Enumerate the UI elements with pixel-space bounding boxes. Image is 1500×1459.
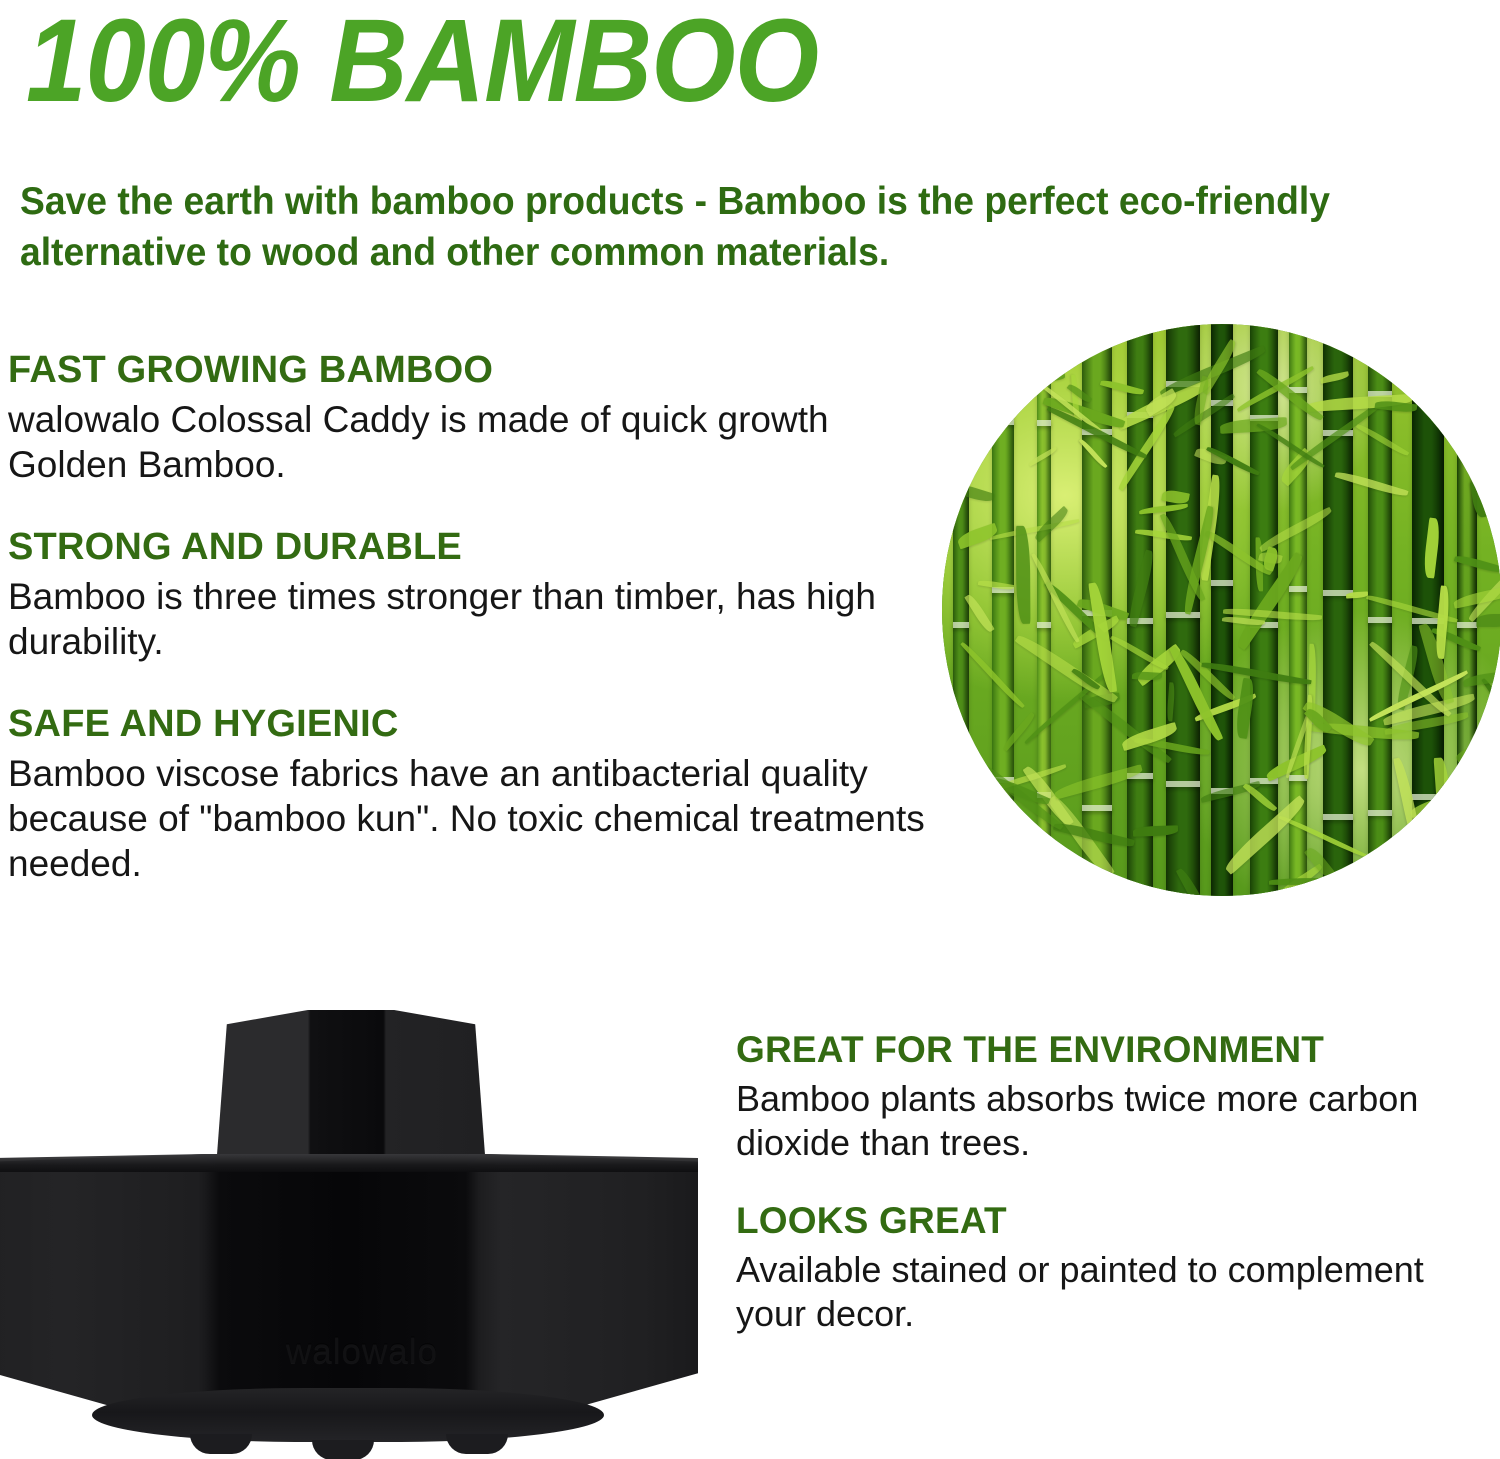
- feature-body: walowalo Colossal Caddy is made of quick…: [8, 397, 958, 487]
- bamboo-leaf: [1053, 764, 1144, 800]
- caddy-foot: [190, 1434, 252, 1454]
- bamboo-leaf: [1020, 875, 1058, 884]
- feature-fast-growing-bamboo: FAST GROWING BAMBOO walowalo Colossal Ca…: [8, 348, 958, 487]
- feature-body: Bamboo viscose fabrics have an antibacte…: [8, 751, 958, 886]
- bamboo-leaf: [960, 640, 1025, 710]
- bamboo-leaf: [1470, 719, 1500, 817]
- caddy-top-rim: [0, 1154, 698, 1172]
- bamboo-leaf: [1031, 552, 1080, 644]
- bamboo-leaf: [1015, 373, 1065, 383]
- bamboo-leaf: [1175, 867, 1217, 896]
- bamboo-leaf: [1166, 682, 1175, 722]
- feature-heading: LOOKS GREAT: [736, 1199, 1496, 1243]
- bamboo-leaf: [1027, 447, 1057, 467]
- bamboo-leaf: [1161, 489, 1190, 506]
- caddy-foot: [312, 1440, 374, 1459]
- bamboo-leaf: [948, 481, 994, 505]
- bamboo-leaf: [956, 522, 999, 549]
- bamboo-leaf: [1269, 878, 1385, 885]
- bamboo-leaf: [1335, 469, 1409, 498]
- feature-great-for-the-environment: GREAT FOR THE ENVIRONMENT Bamboo plants …: [736, 1028, 1496, 1165]
- bamboo-leaf: [1016, 526, 1031, 624]
- bamboo-leaf: [1434, 585, 1451, 659]
- product-logo-walowalo: walowalo: [232, 1332, 492, 1372]
- bamboo-leaf: [1100, 378, 1144, 397]
- bamboo-leaf: [1454, 733, 1500, 762]
- bamboo-leaf: [1067, 383, 1093, 405]
- page-headline: 100% BAMBOO: [26, 2, 818, 120]
- bamboo-leaf: [1126, 549, 1157, 627]
- bamboo-leaf: [1242, 782, 1277, 814]
- bamboo-leaf: [1026, 324, 1074, 376]
- bamboo-leaf: [1397, 324, 1423, 389]
- bamboo-leaf: [1454, 553, 1500, 574]
- bamboo-leaf: [977, 579, 1013, 590]
- bamboo-leaf: [1219, 418, 1286, 435]
- bamboo-leaf: [1476, 614, 1500, 627]
- feature-heading: SAFE AND HYGIENIC: [8, 702, 958, 746]
- caddy-foot: [446, 1434, 508, 1454]
- caddy-center-column: [216, 1010, 486, 1168]
- bamboo-leaf: [1423, 518, 1442, 579]
- bamboo-leaf: [1135, 527, 1192, 542]
- bamboo-grove-photo: [942, 324, 1500, 896]
- caddy-base-plate: [92, 1388, 604, 1442]
- bamboo-leaf: [1078, 438, 1107, 470]
- bamboo-leaf: [1463, 671, 1500, 688]
- bamboo-leaf: [964, 802, 993, 828]
- right-feature-column: GREAT FOR THE ENVIRONMENT Bamboo plants …: [736, 1028, 1496, 1370]
- feature-looks-great: LOOKS GREAT Available stained or painted…: [736, 1199, 1496, 1336]
- feature-heading: GREAT FOR THE ENVIRONMENT: [736, 1028, 1496, 1072]
- bamboo-leaf: [1110, 634, 1169, 672]
- bamboo-leaves: [942, 324, 1500, 896]
- bamboo-leaf: [1487, 490, 1500, 564]
- bamboo-leaf: [1320, 371, 1349, 383]
- feature-heading: STRONG AND DURABLE: [8, 525, 958, 569]
- bamboo-leaf: [1355, 422, 1409, 458]
- left-feature-column: FAST GROWING BAMBOO walowalo Colossal Ca…: [8, 348, 958, 886]
- bamboo-leaf: [1430, 324, 1494, 397]
- bamboo-leaf: [1470, 481, 1489, 519]
- feature-heading: FAST GROWING BAMBOO: [8, 348, 958, 392]
- bamboo-leaf: [1445, 382, 1475, 438]
- page-subtitle: Save the earth with bamboo products - Ba…: [20, 176, 1416, 278]
- bamboo-leaf: [1433, 757, 1453, 841]
- bamboo-infographic-page: 100% BAMBOO Save the earth with bamboo p…: [0, 0, 1500, 1459]
- product-photo-caddy: walowalo: [0, 1004, 714, 1456]
- bamboo-leaf: [988, 807, 1027, 846]
- feature-safe-and-hygienic: SAFE AND HYGIENIC Bamboo viscose fabrics…: [8, 702, 958, 886]
- feature-body: Available stained or painted to compleme…: [736, 1248, 1496, 1336]
- bamboo-leaf: [1491, 814, 1500, 839]
- bamboo-leaf: [965, 593, 995, 634]
- bamboo-leaf: [1234, 678, 1256, 739]
- bamboo-leaf: [1133, 826, 1179, 837]
- feature-body: Bamboo plants absorbs twice more carbon …: [736, 1077, 1496, 1165]
- bamboo-leaf: [1001, 711, 1037, 751]
- bamboo-leaf: [1279, 814, 1368, 860]
- feature-body: Bamboo is three times stronger than timb…: [8, 574, 958, 664]
- feature-strong-and-durable: STRONG AND DURABLE Bamboo is three times…: [8, 525, 958, 664]
